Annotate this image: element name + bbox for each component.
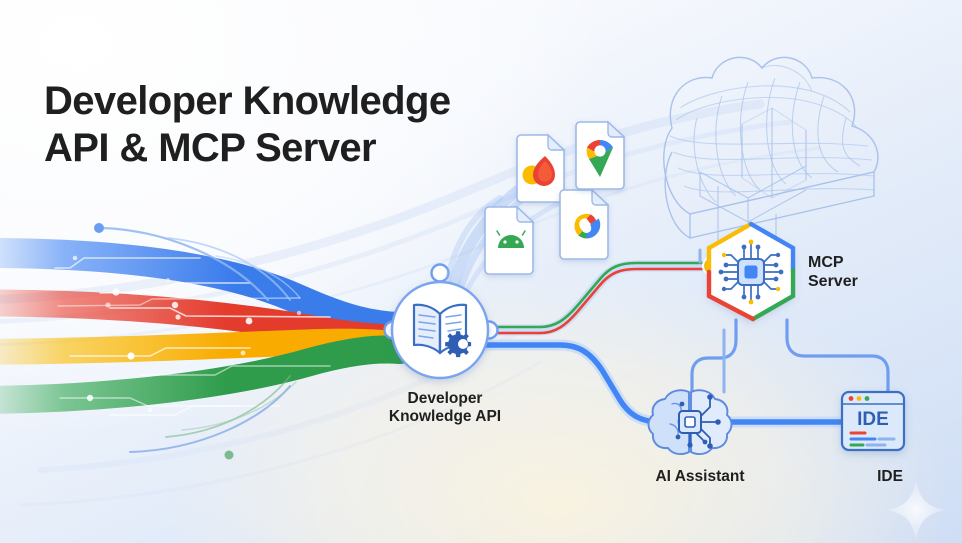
developer-knowledge-api-label: Developer Knowledge API	[345, 390, 545, 427]
ide-screen-text: IDE	[857, 409, 889, 430]
mcp-server-label: MCP Server	[808, 254, 938, 292]
ai-assistant-node[interactable]	[649, 390, 732, 454]
ide-node[interactable]: IDE	[842, 392, 904, 450]
page-title: Developer Knowledge API & MCP Server	[44, 78, 450, 172]
developer-knowledge-api-node[interactable]	[392, 282, 488, 378]
firebase-doc-card[interactable]	[517, 135, 564, 202]
ide-label: IDE	[825, 468, 955, 486]
illustration-canvas: IDE Developer Knowledge API & MCP Server…	[0, 0, 962, 543]
maps-doc-card[interactable]	[576, 122, 624, 189]
mcp-server-node[interactable]	[709, 224, 793, 320]
window-traffic-dots	[849, 396, 870, 401]
cloud-doc-card[interactable]	[560, 190, 608, 259]
ai-assistant-label: AI Assistant	[620, 468, 780, 486]
android-doc-card[interactable]	[485, 207, 533, 274]
